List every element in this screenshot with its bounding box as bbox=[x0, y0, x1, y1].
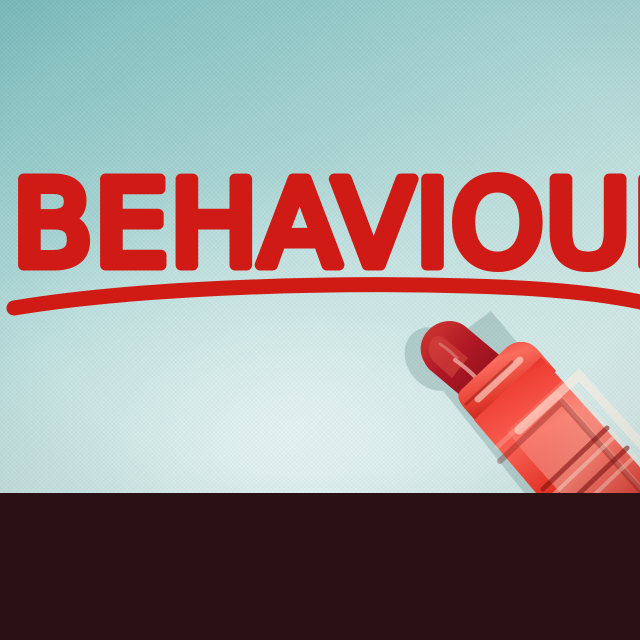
photo-background: BEHAVIOUR BEHAVIOUR bbox=[0, 0, 640, 493]
underline-stroke bbox=[14, 285, 640, 308]
pen-grip-rings bbox=[543, 428, 635, 493]
headline-underline bbox=[0, 272, 640, 318]
course-cover-card: BEHAVIOUR BEHAVIOUR bbox=[0, 0, 640, 640]
pen-shadow bbox=[392, 311, 640, 493]
title-banner: QQ1 Level 6 Positive Behaviour Support S… bbox=[0, 493, 640, 640]
pen-barrel bbox=[474, 357, 640, 493]
pen-tip bbox=[421, 321, 510, 407]
pen-collar bbox=[458, 342, 556, 434]
